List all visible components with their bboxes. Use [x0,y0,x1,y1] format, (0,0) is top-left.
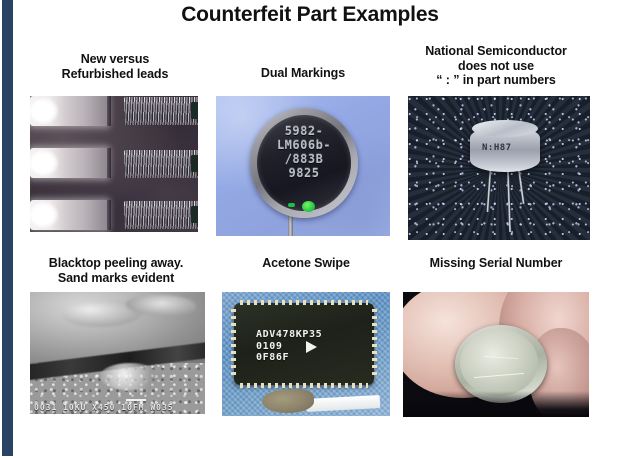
caption-line: National Semiconductor [400,44,592,59]
debris-clump [100,363,160,390]
chip-pins-left [231,309,236,379]
photo-dual-markings: 5982- LM606b- /883B 9825 [216,96,390,236]
transistor-can: N:H87 [470,126,540,172]
caption-line: Sand marks evident [28,271,204,286]
surface-scratch [484,356,518,359]
marking-line: /883B [250,152,358,166]
manufacturer-triangle-logo [306,341,317,353]
sem-readout-text: 0031 10KU X450 10FM W035 [34,403,201,412]
caption-new-vs-refurbished-leads: New versus Refurbished leads [30,52,200,81]
sem-scale-bar [126,399,146,401]
transistor-can: 5982- LM606b- /883B 9825 [250,108,358,218]
refurbished-lead [124,97,198,125]
refurbished-lead [124,150,198,178]
surface-scratch [474,373,524,378]
dual-marking-text: 5982- LM606b- /883B 9825 [250,124,358,180]
caption-line: does not use [400,59,592,74]
can-top [472,120,538,137]
photo-missing-serial-number [403,292,589,417]
transistor-lead [288,214,293,236]
marking-line: ADV478KP35 [256,329,322,341]
caption-line: New versus [30,52,200,67]
caption-missing-serial-number: Missing Serial Number [403,256,589,271]
caption-blacktop-peeling: Blacktop peeling away. Sand marks eviden… [28,256,204,285]
caption-dual-markings: Dual Markings [216,66,390,81]
plcc-chip: ADV478KP35 0109 0F86F [234,303,374,385]
caption-line: “ : ” in part numbers [400,73,592,88]
part-marking-text: N:H87 [482,143,534,153]
caption-acetone-swipe: Acetone Swipe [222,256,390,271]
caption-line: Refurbished leads [30,67,200,82]
chip-pins-top [240,300,368,305]
caption-line: Missing Serial Number [403,256,589,271]
new-lead [30,96,108,126]
page-title: Counterfeit Part Examples [60,2,560,28]
photo-blacktop-peeling-sem: 0031 10KU X450 10FM W035 [30,292,205,414]
marking-line: 0F86F [256,352,322,364]
chip-pins-bottom [240,383,368,388]
marking-line: LM606b- [250,138,358,152]
left-accent-bar [2,0,13,456]
photo-new-vs-refurbished-leads [30,96,198,232]
photo-national-semiconductor-part: N:H87 [408,96,590,240]
slide-canvas: Counterfeit Part Examples New versus Ref… [0,0,620,458]
can-face-blank [460,329,538,396]
photo-shadow [403,391,589,417]
new-lead [30,148,108,178]
new-lead [30,200,108,230]
refurbished-lead [124,201,198,229]
marking-line: 9825 [250,166,358,180]
caption-national-semiconductor: National Semiconductor does not use “ : … [400,44,592,88]
photo-acetone-swipe: ADV478KP35 0109 0F86F [222,292,390,416]
caption-line: Blacktop peeling away. [28,256,204,271]
caption-line: Dual Markings [216,66,390,81]
chip-pins-right [372,309,377,379]
caption-line: Acetone Swipe [222,256,390,271]
green-paint-dot [302,201,315,212]
marking-line: 5982- [250,124,358,138]
green-paint-smudge [288,203,295,207]
